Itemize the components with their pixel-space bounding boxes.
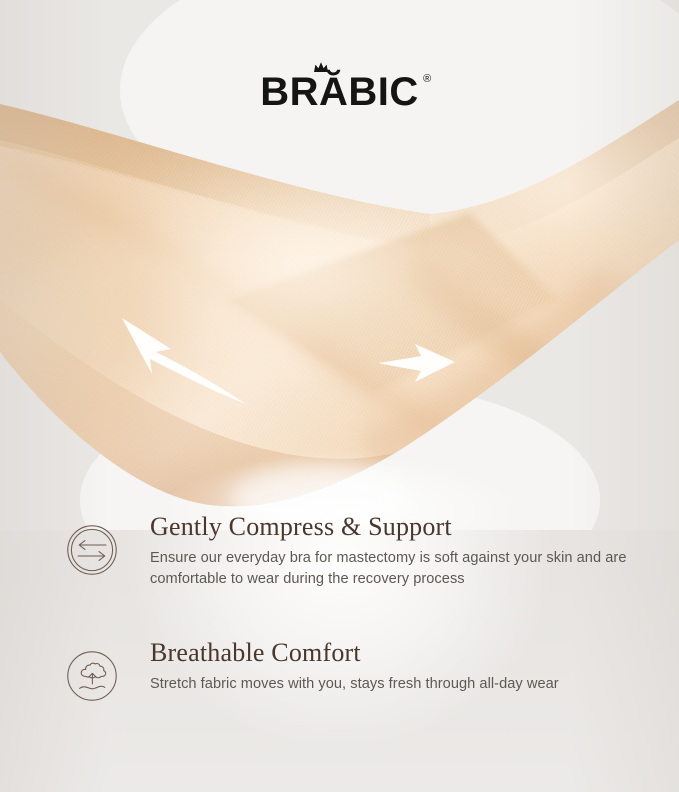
feature-item: Gently Compress & Support Ensure our eve… <box>0 512 679 591</box>
registered-trademark-icon: ® <box>423 74 432 85</box>
crown-icon <box>313 61 329 73</box>
logo-text-accented: Ă <box>319 70 348 114</box>
feature-text: Breathable Comfort Stretch fabric moves … <box>118 638 639 695</box>
brand-logo-wrap: BRĂBIC ® <box>0 72 679 122</box>
feature-text: Gently Compress & Support Ensure our eve… <box>118 512 639 591</box>
feature-item: Breathable Comfort Stretch fabric moves … <box>0 638 679 702</box>
feature-description: Stretch fabric moves with you, stays fre… <box>150 674 639 696</box>
brand-logo: BRĂBIC ® <box>260 72 419 112</box>
breathable-cloud-icon <box>66 650 118 702</box>
logo-text-before: BR <box>260 70 319 114</box>
compress-arrows-icon <box>66 524 118 576</box>
feature-title: Breathable Comfort <box>150 638 639 669</box>
logo-text-after: BIC <box>348 70 418 114</box>
feature-list: Gently Compress & Support Ensure our eve… <box>0 512 679 702</box>
feature-title: Gently Compress & Support <box>150 512 639 543</box>
feature-description: Ensure our everyday bra for mastectomy i… <box>150 548 639 591</box>
product-feature-page: BRĂBIC ® <box>0 0 679 792</box>
